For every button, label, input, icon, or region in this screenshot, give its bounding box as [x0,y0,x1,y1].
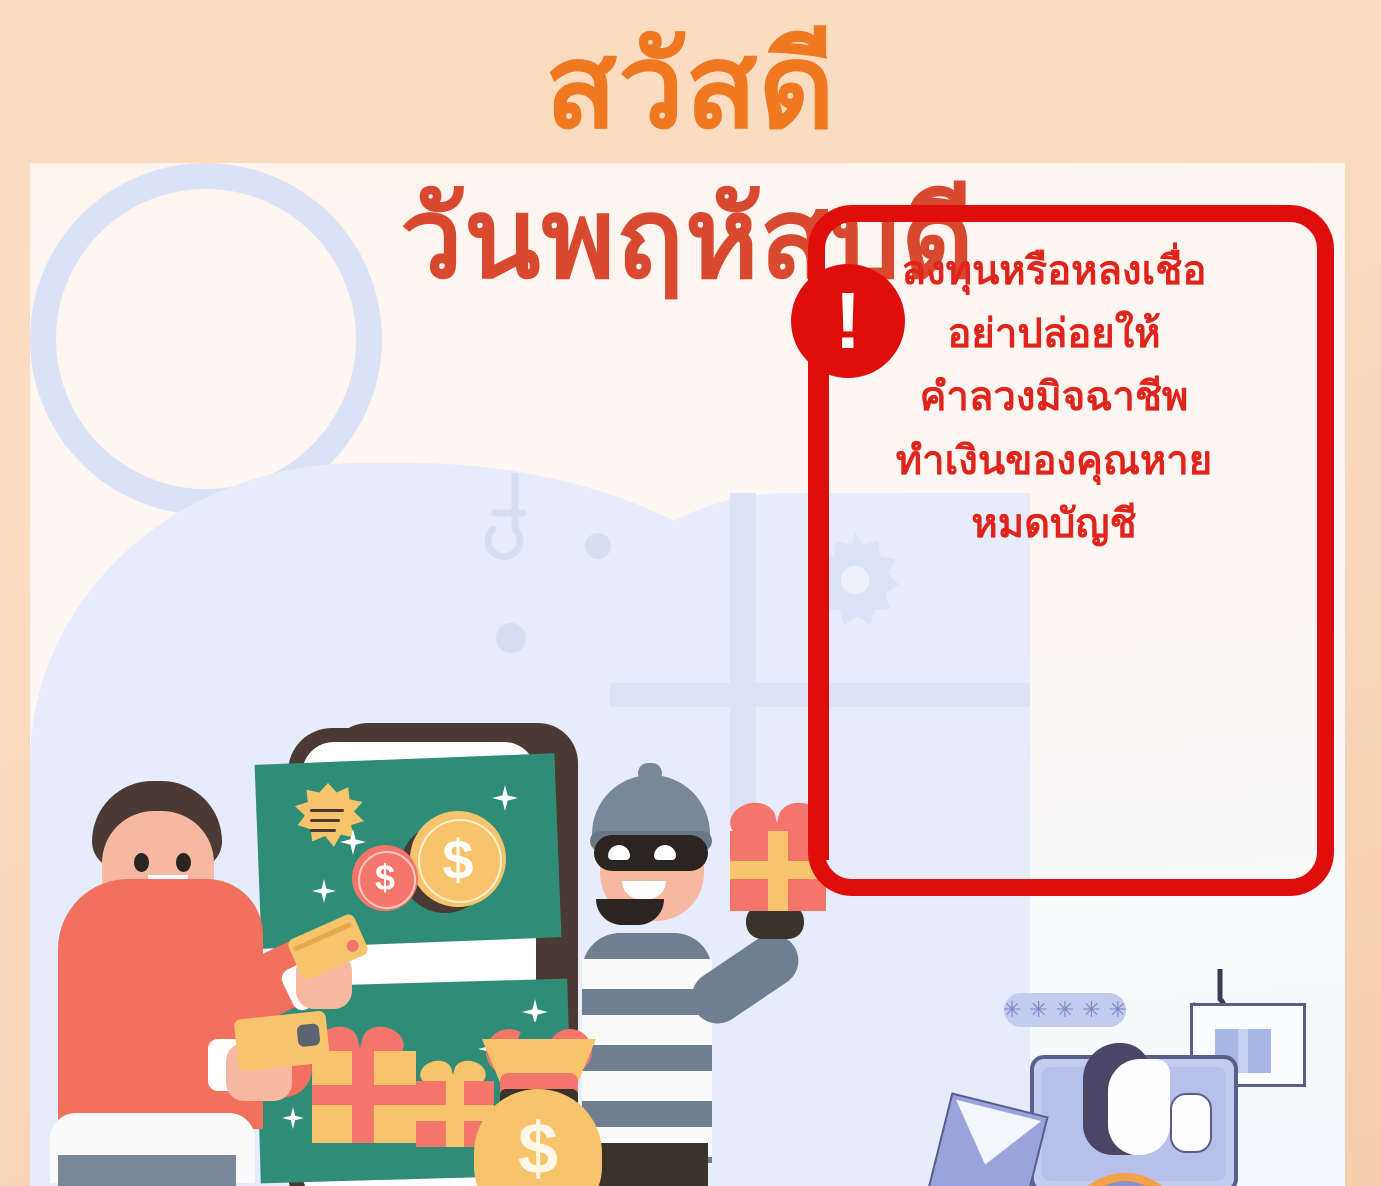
background-dot-1 [585,533,611,559]
red-coin-symbol: $ [375,857,395,899]
victim-face [1108,1059,1170,1155]
envelope-flap [942,1100,1041,1176]
warning-message: ลงทุนหรือหลงเชื่อ อย่าปล่อยให้ คำลวงมิจฉ… [838,240,1270,556]
warning-line-5: หมดบัญชี [838,493,1270,556]
starburst-line-2 [310,819,340,822]
greeting-title-line1: สวัสดี [0,28,1381,146]
man-trousers [58,1155,236,1186]
gift-box-large [312,1051,416,1143]
man-eye-right [176,853,191,872]
victim-hand [1170,1093,1212,1153]
starburst-line-1 [310,809,344,812]
password-mask-char-2: ✳ [1029,999,1047,1021]
warning-line-1: ลงทุนหรือหลงเชื่อ [838,240,1270,303]
password-field-graphic: ✳ ✳ ✳ ✳ ✳ [1004,993,1126,1027]
thief-eye-right [654,845,676,860]
starburst-line-3 [310,829,336,832]
password-mask-char-5: ✳ [1109,999,1127,1021]
gold-coin-symbol: $ [442,827,473,892]
man-eye-left [134,853,149,872]
red-coin-icon: $ [352,845,418,911]
credit-card-lower [234,1010,331,1071]
money-bag-symbol: $ [474,1113,602,1185]
password-mask-char-4: ✳ [1082,999,1100,1021]
fishhook-icon [485,473,545,593]
thief-eye-left [608,845,630,860]
warning-line-2: อย่าปล่อยให้ [838,303,1270,366]
background-bar-vertical [730,493,756,823]
thief-trousers [586,1143,708,1186]
background-dot-2 [496,623,526,653]
warning-line-3: คำลวงมิจฉาชีพ [838,366,1270,429]
password-mask-char-3: ✳ [1056,999,1074,1021]
password-mask-char-1: ✳ [1003,999,1021,1021]
warning-line-4: ทำเงินของคุณหาย [838,430,1270,493]
gold-coin-icon: $ [410,811,506,907]
